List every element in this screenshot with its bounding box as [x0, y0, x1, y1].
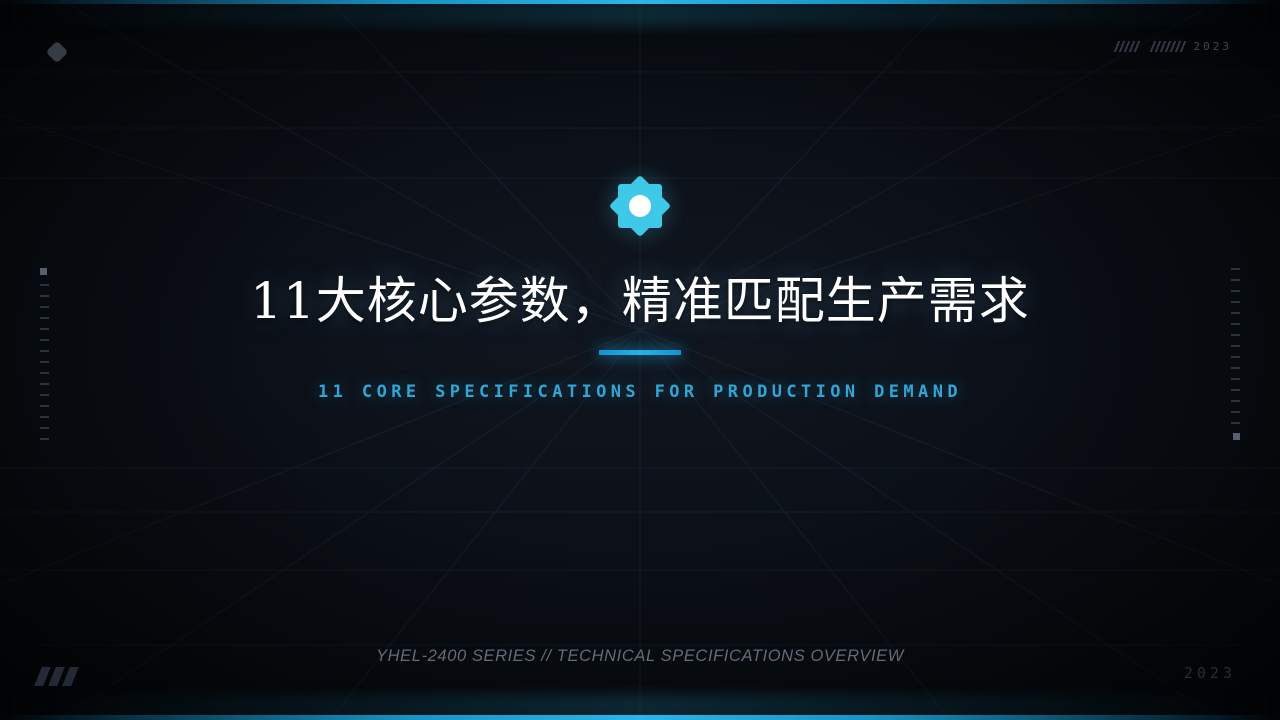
footer-note: YHEL-2400 SERIES // TECHNICAL SPECIFICAT…: [0, 647, 1280, 666]
hud-year-bottom-right: 2023: [1184, 664, 1236, 682]
slide-center-content: 11大核心参数，精准匹配生产需求 11 CORE SPECIFICATIONS …: [0, 0, 1280, 402]
page-subtitle: 11 CORE SPECIFICATIONS FOR PRODUCTION DE…: [318, 382, 962, 402]
emblem: [602, 168, 678, 244]
hud-bottom-left-slashes-icon: [38, 667, 75, 686]
eight-point-star-icon: [609, 175, 671, 237]
presentation-slide: 2023 2023 11大: [0, 0, 1280, 720]
bottom-accent-bar: [0, 715, 1280, 720]
page-title: 11大核心参数，精准匹配生产需求: [250, 274, 1030, 329]
title-divider: [599, 350, 681, 355]
